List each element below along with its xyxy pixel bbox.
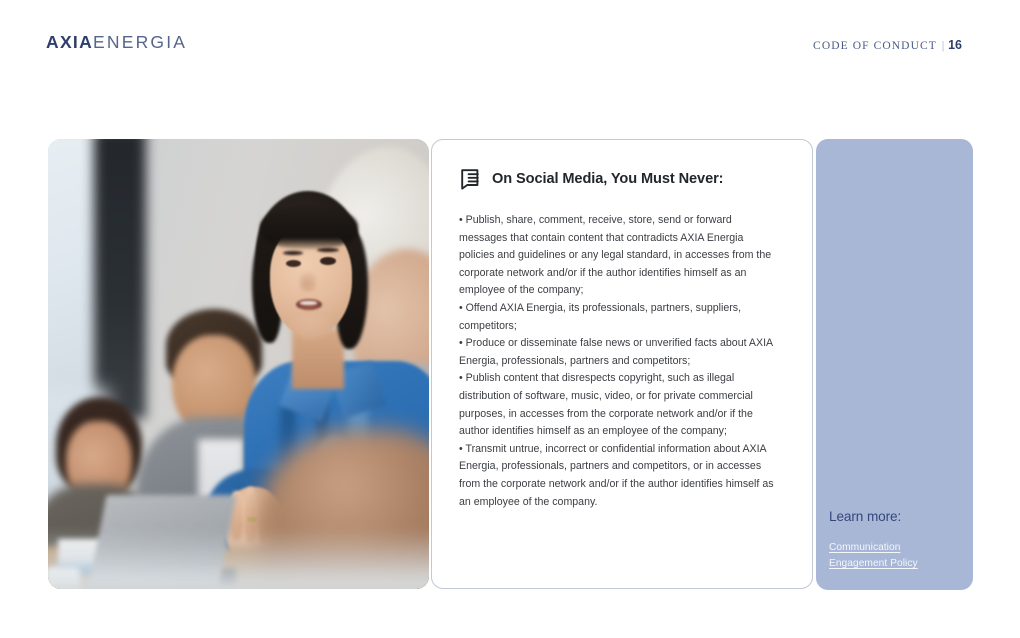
page-header: AXIAENERGIA CODE OF CONDUCT|16 — [0, 0, 1020, 95]
document-title: CODE OF CONDUCT — [813, 40, 937, 52]
link-engagement-policy[interactable]: Engagement Policy — [829, 556, 918, 572]
bullet-item: • Publish content that disrespects copyr… — [459, 370, 779, 440]
chat-bubble-icon — [459, 168, 481, 190]
bullet-item: • Transmit untrue, incorrect or confiden… — [459, 441, 779, 511]
logo-secondary-text: ENERGIA — [93, 32, 187, 52]
page-number: 16 — [948, 38, 962, 52]
header-meta: CODE OF CONDUCT|16 — [813, 39, 962, 53]
meeting-photo — [48, 139, 429, 589]
bullet-item: • Produce or disseminate false news or u… — [459, 335, 779, 370]
content-card: On Social Media, You Must Never: • Publi… — [431, 139, 813, 589]
bullet-item: • Offend AXIA Energia, its professionals… — [459, 300, 779, 335]
learn-more-label: Learn more: — [829, 509, 901, 524]
photo-canvas — [48, 139, 429, 589]
brand-logo: AXIAENERGIA — [46, 34, 187, 52]
card-body: • Publish, share, comment, receive, stor… — [459, 212, 779, 511]
header-separator: | — [942, 40, 945, 52]
learn-more-links: Communication Engagement Policy — [829, 540, 918, 572]
card-title: On Social Media, You Must Never: — [492, 171, 723, 187]
logo-primary-text: AXIA — [46, 32, 93, 52]
bullet-item: • Publish, share, comment, receive, stor… — [459, 212, 779, 300]
link-communication[interactable]: Communication — [829, 540, 918, 556]
card-header: On Social Media, You Must Never: — [459, 168, 723, 190]
learn-more-panel: Learn more: Communication Engagement Pol… — [816, 139, 973, 590]
